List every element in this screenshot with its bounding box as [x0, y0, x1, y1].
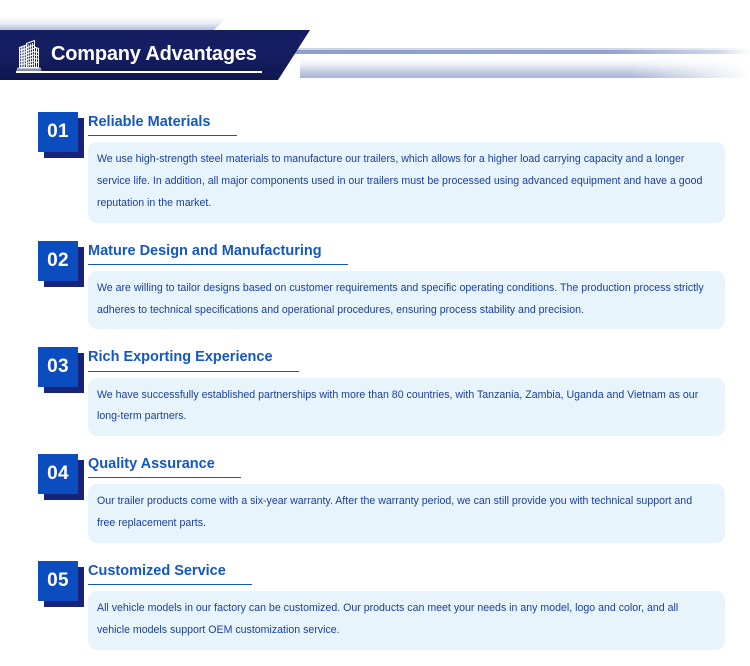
advantage-item: 01 Reliable Materials We use high-streng…: [0, 112, 750, 223]
advantage-description: All vehicle models in our factory can be…: [88, 591, 725, 649]
advantage-item: 03 Rich Exporting Experience We have suc…: [0, 347, 750, 436]
badge-number: 03: [38, 347, 78, 387]
badge-number: 01: [38, 112, 78, 152]
badge-number: 04: [38, 454, 78, 494]
advantages-list: 01 Reliable Materials We use high-streng…: [0, 112, 750, 650]
advantage-description: Our trailer products come with a six-yea…: [88, 484, 725, 542]
advantage-title: Reliable Materials: [88, 114, 237, 136]
advantage-number-badge: 05: [38, 561, 84, 607]
advantage-item: 05 Customized Service All vehicle models…: [0, 561, 750, 650]
header-right-thin-rule: [282, 48, 750, 54]
page-header: Company Advantages: [0, 0, 750, 100]
advantage-title: Quality Assurance: [88, 456, 241, 478]
advantage-description: We have successfully established partner…: [88, 378, 725, 436]
header-top-accent-strip: [0, 16, 228, 32]
advantage-number-badge: 04: [38, 454, 84, 500]
advantage-description: We are willing to tailor designs based o…: [88, 271, 725, 329]
badge-number: 05: [38, 561, 78, 601]
banner-title-underline: [16, 71, 262, 73]
advantage-item: 02 Mature Design and Manufacturing We ar…: [0, 241, 750, 330]
advantage-number-badge: 02: [38, 241, 84, 287]
header-banner-content: Company Advantages: [0, 30, 257, 80]
advantage-title: Mature Design and Manufacturing: [88, 243, 348, 265]
header-banner: Company Advantages: [0, 30, 310, 80]
advantage-description: We use high-strength steel materials to …: [88, 142, 725, 222]
advantage-title: Rich Exporting Experience: [88, 349, 299, 371]
advantage-content: Customized Service All vehicle models in…: [88, 561, 750, 650]
advantage-content: Reliable Materials We use high-strength …: [88, 112, 750, 223]
badge-number: 02: [38, 241, 78, 281]
advantage-item: 04 Quality Assurance Our trailer product…: [0, 454, 750, 543]
advantage-content: Mature Design and Manufacturing We are w…: [88, 241, 750, 330]
advantage-content: Quality Assurance Our trailer products c…: [88, 454, 750, 543]
advantage-number-badge: 03: [38, 347, 84, 393]
page-title: Company Advantages: [51, 44, 257, 66]
header-right-gradient-band: [300, 58, 750, 78]
advantage-number-badge: 01: [38, 112, 84, 158]
advantage-title: Customized Service: [88, 563, 252, 585]
building-icon: [16, 39, 42, 71]
advantage-content: Rich Exporting Experience We have succes…: [88, 347, 750, 436]
